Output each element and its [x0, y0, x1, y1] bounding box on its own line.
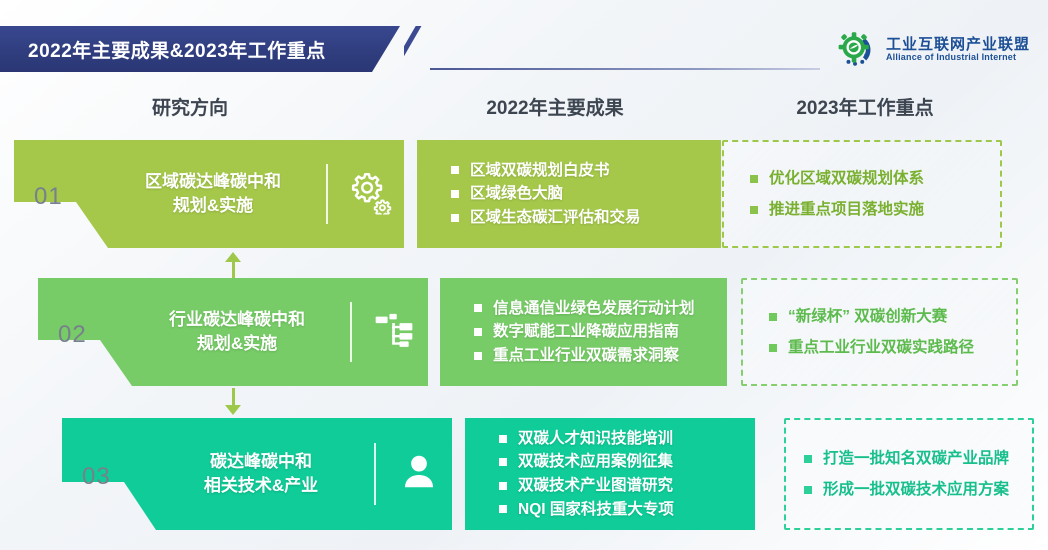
bullet-square-icon	[474, 328, 482, 336]
logo-text: 工业互联网产业联盟 Alliance of Industrial Interne…	[886, 37, 1030, 63]
direction-line1: 行业碳达峰碳中和	[134, 308, 340, 332]
focus-card-03[interactable]: 打造一批知名双碳产业品牌 形成一批双碳技术应用方案	[784, 418, 1034, 530]
brand-logo: 工业互联网产业联盟 Alliance of Industrial Interne…	[836, 28, 1030, 72]
list-item: 优化区域双碳规划体系	[750, 163, 1000, 194]
focus-list-03: 打造一批知名双碳产业品牌 形成一批双碳技术应用方案	[786, 443, 1032, 505]
bullet-square-icon	[451, 214, 459, 222]
focus-text: 优化区域双碳规划体系	[769, 163, 924, 194]
focus-list-01: 优化区域双碳规划体系 推进重点项目落地实施	[724, 163, 1000, 225]
bullet-square-icon	[499, 458, 507, 466]
list-item: 推进重点项目落地实施	[750, 194, 1000, 225]
list-item: 信息通信业绿色发展行动计划	[474, 297, 727, 321]
list-item: 形成一批双碳技术应用方案	[804, 474, 1032, 505]
person-user-icon	[398, 451, 440, 498]
gear-settings-icon	[346, 169, 392, 220]
list-item: 打造一批知名双碳产业品牌	[804, 443, 1032, 474]
focus-list-02: “新绿杯” 双碳创新大赛 重点工业行业双碳实践路径	[743, 301, 1016, 363]
achievement-text: 区域绿色大脑	[470, 182, 563, 206]
direction-line1: 碳达峰碳中和	[158, 450, 364, 474]
focus-text: “新绿杯” 双碳创新大赛	[788, 301, 947, 332]
gear-globe-logo-icon	[836, 29, 878, 71]
list-item: 区域生态碳汇评估和交易	[451, 206, 721, 230]
bullet-square-icon	[499, 435, 507, 443]
focus-text: 推进重点项目落地实施	[769, 194, 924, 225]
achievements-list-02: 信息通信业绿色发展行动计划 数字赋能工业降碳应用指南 重点工业行业双碳需求洞察	[474, 297, 727, 368]
bullet-square-icon	[750, 175, 758, 183]
logo-name-en: Alliance of Industrial Internet	[886, 53, 1030, 63]
direction-card-01[interactable]: 01 区域碳达峰碳中和 规划&实施	[14, 140, 404, 248]
focus-card-01[interactable]: 优化区域双碳规划体系 推进重点项目落地实施	[722, 140, 1002, 248]
bullet-square-icon	[451, 166, 459, 174]
focus-card-02[interactable]: “新绿杯” 双碳创新大赛 重点工业行业双碳实践路径	[741, 278, 1018, 386]
bullet-square-icon	[499, 482, 507, 490]
direction-divider	[350, 302, 352, 362]
bullet-square-icon	[769, 313, 777, 321]
focus-text: 形成一批双碳技术应用方案	[823, 474, 1009, 505]
direction-line1: 区域碳达峰碳中和	[110, 170, 316, 194]
row-03: 03 碳达峰碳中和 相关技术&产业 双碳人才知识技能培训 双碳技术应用案例征集 …	[0, 418, 1048, 530]
header: 2022年主要成果&2023年工作重点	[0, 26, 1048, 72]
achievement-text: 数字赋能工业降碳应用指南	[493, 320, 679, 344]
column-heading-achievements: 2022年主要成果	[465, 93, 645, 120]
list-item: 双碳技术应用案例征集	[499, 450, 755, 474]
direction-line2: 规划&实施	[134, 332, 340, 356]
bullet-square-icon	[769, 344, 777, 352]
list-item: 重点工业行业双碳需求洞察	[474, 344, 727, 368]
column-heading-direction: 研究方向	[100, 93, 280, 120]
direction-divider	[374, 443, 376, 506]
achievements-card-03[interactable]: 双碳人才知识技能培训 双碳技术应用案例征集 双碳技术产业图谱研究 NQI 国家科…	[465, 418, 755, 530]
achievements-list-01: 区域双碳规划白皮书 区域绿色大脑 区域生态碳汇评估和交易	[451, 159, 721, 230]
bullet-square-icon	[750, 206, 758, 214]
bullet-square-icon	[474, 352, 482, 360]
list-item: 区域双碳规划白皮书	[451, 159, 721, 183]
list-item: 数字赋能工业降碳应用指南	[474, 320, 727, 344]
bullet-square-icon	[804, 455, 812, 463]
achievements-list-03: 双碳人才知识技能培训 双碳技术应用案例征集 双碳技术产业图谱研究 NQI 国家科…	[499, 427, 755, 521]
direction-label-01: 区域碳达峰碳中和 规划&实施	[110, 170, 316, 218]
achievement-text: 重点工业行业双碳需求洞察	[493, 344, 679, 368]
header-rule	[430, 68, 820, 70]
logo-name-cn: 工业互联网产业联盟	[886, 37, 1030, 53]
list-item: “新绿杯” 双碳创新大赛	[769, 301, 1016, 332]
list-item: NQI 国家科技重大专项	[499, 498, 755, 522]
arrow-row2-to-row1	[225, 252, 241, 278]
achievement-text: 区域双碳规划白皮书	[470, 159, 610, 183]
title-slash-decoration	[404, 26, 430, 72]
row-number-02: 02	[58, 321, 87, 349]
org-chart-icon	[372, 308, 416, 357]
direction-label-02: 行业碳达峰碳中和 规划&实施	[134, 308, 340, 356]
direction-line2: 相关技术&产业	[158, 474, 364, 498]
list-item: 区域绿色大脑	[451, 182, 721, 206]
achievement-text: 区域生态碳汇评估和交易	[470, 206, 641, 230]
row-02: 02 行业碳达峰碳中和 规划&实施	[0, 278, 1048, 386]
direction-card-02[interactable]: 02 行业碳达峰碳中和 规划&实施	[38, 278, 428, 386]
bullet-square-icon	[804, 486, 812, 494]
achievement-text: 双碳技术应用案例征集	[518, 450, 673, 474]
page-title: 2022年主要成果&2023年工作重点	[28, 36, 326, 63]
slide-canvas: 2022年主要成果&2023年工作重点	[0, 0, 1048, 550]
achievements-card-01[interactable]: 区域双碳规划白皮书 区域绿色大脑 区域生态碳汇评估和交易	[417, 140, 721, 248]
list-item: 重点工业行业双碳实践路径	[769, 332, 1016, 363]
achievement-text: 双碳人才知识技能培训	[518, 427, 673, 451]
arrow-row2-to-row3	[225, 388, 241, 416]
focus-text: 重点工业行业双碳实践路径	[788, 332, 974, 363]
achievements-card-02[interactable]: 信息通信业绿色发展行动计划 数字赋能工业降碳应用指南 重点工业行业双碳需求洞察	[440, 278, 727, 386]
focus-text: 打造一批知名双碳产业品牌	[823, 443, 1009, 474]
achievement-text: 信息通信业绿色发展行动计划	[493, 297, 695, 321]
direction-divider	[326, 164, 328, 224]
list-item: 双碳技术产业图谱研究	[499, 474, 755, 498]
row-01: 01 区域碳达峰碳中和 规划&实施 区域双碳规划白皮书 区域绿色大脑 区域生态碳…	[0, 140, 1048, 248]
column-heading-focus: 2023年工作重点	[770, 93, 960, 120]
column-headings: 研究方向 2022年主要成果 2023年工作重点	[0, 93, 1048, 127]
list-item: 双碳人才知识技能培训	[499, 427, 755, 451]
achievement-text: 双碳技术产业图谱研究	[518, 474, 673, 498]
bullet-square-icon	[499, 505, 507, 513]
achievement-text: NQI 国家科技重大专项	[518, 498, 674, 522]
title-banner: 2022年主要成果&2023年工作重点	[0, 26, 400, 72]
bullet-square-icon	[474, 304, 482, 312]
row-number-01: 01	[34, 183, 63, 211]
row-number-03: 03	[82, 463, 111, 491]
direction-card-03[interactable]: 03 碳达峰碳中和 相关技术&产业	[62, 418, 452, 530]
direction-label-03: 碳达峰碳中和 相关技术&产业	[158, 450, 364, 498]
bullet-square-icon	[451, 190, 459, 198]
direction-line2: 规划&实施	[110, 194, 316, 218]
